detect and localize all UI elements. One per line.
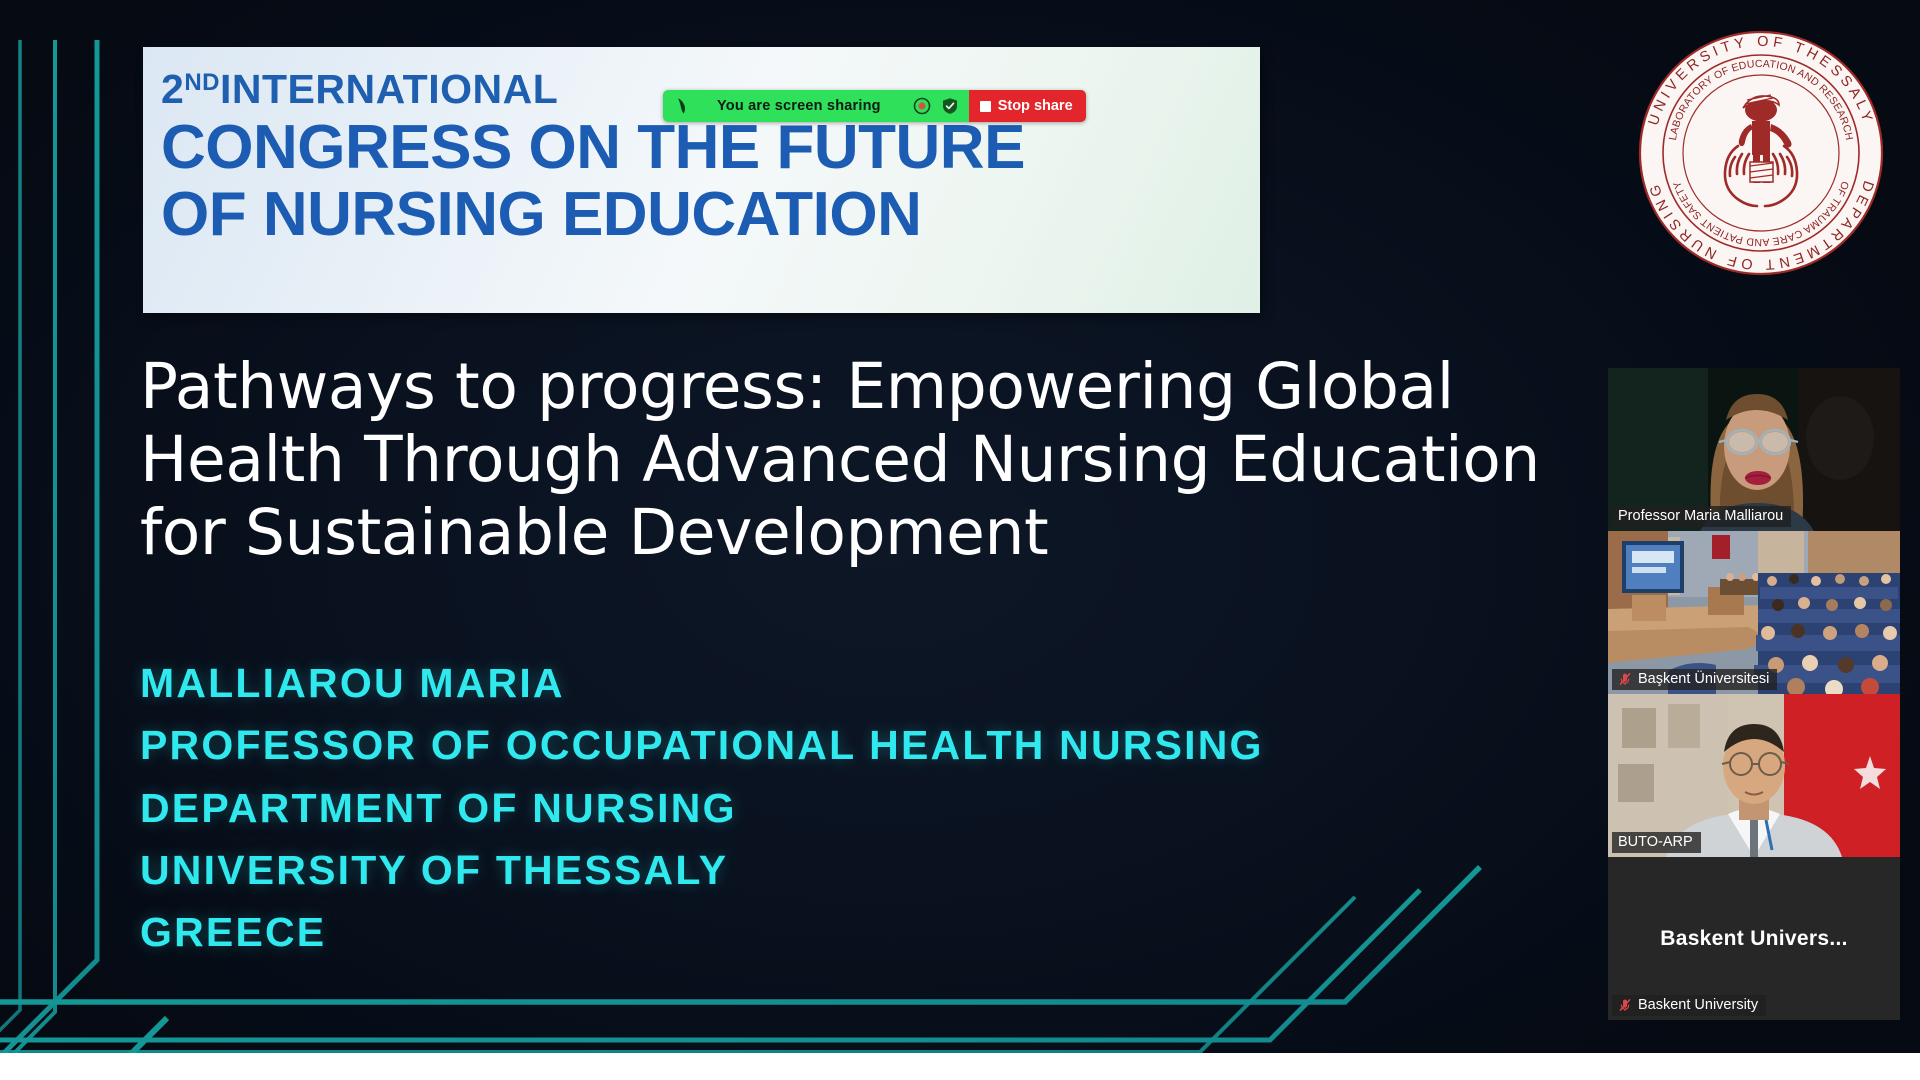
participant-name-text: BUTO-ARP — [1618, 834, 1693, 850]
banner-line-3: OF NURSING EDUCATION — [161, 183, 1260, 246]
banner-line-2: CONGRESS ON THE FUTURE — [161, 116, 1260, 179]
participant-name-label: Professor Maria Malliarou — [1612, 506, 1791, 527]
screen-share-toolbar[interactable]: You are screen sharing Stop share — [663, 90, 1086, 122]
banner-ordinal-number: 2 — [161, 69, 184, 110]
stop-share-label: Stop share — [998, 98, 1073, 114]
participant-tile-buto-arp[interactable]: BUTO-ARP — [1608, 694, 1900, 857]
record-indicator-icon[interactable] — [913, 97, 931, 115]
university-of-thessaly-seal: UNIVERSITY OF THESSALY DEPARTMENT OF NUR… — [1632, 24, 1890, 282]
participant-name-text: Başkent Üniversitesi — [1638, 671, 1769, 687]
cursor-icon — [675, 97, 691, 115]
congress-banner: 2ND INTERNATIONAL CONGRESS ON THE FUTURE… — [143, 47, 1260, 313]
participant-name-label: BUTO-ARP — [1612, 832, 1701, 853]
screen-share-status-text: You are screen sharing — [701, 98, 903, 114]
stop-share-button[interactable]: Stop share — [969, 90, 1086, 122]
author-line-university: UNIVERSITY OF THESSALY — [140, 839, 1560, 901]
banner-ordinal-suffix: ND — [184, 71, 220, 95]
slide-title: Pathways to progress: Empowering Global … — [140, 350, 1570, 569]
mic-muted-icon — [1618, 998, 1632, 1012]
author-line-department: DEPARTMENT OF NURSING — [140, 777, 1560, 839]
participant-tile-professor-maria-malliarou[interactable]: Professor Maria Malliarou — [1608, 368, 1900, 531]
participant-name-label: Başkent Üniversitesi — [1612, 669, 1777, 690]
author-affiliation-block: MALLIAROU MARIA PROFESSOR OF OCCUPATIONA… — [140, 652, 1560, 964]
participant-name-text: Professor Maria Malliarou — [1618, 508, 1783, 524]
participant-video-strip: Professor Maria Malliarou — [1608, 368, 1900, 1020]
stop-square-icon — [980, 101, 991, 112]
author-line-country: GREECE — [140, 901, 1560, 963]
mic-muted-icon — [1618, 672, 1632, 686]
shield-check-icon[interactable] — [941, 97, 959, 115]
participant-tile-baskent-universitesi[interactable]: Başkent Üniversitesi — [1608, 531, 1900, 694]
author-line-name: MALLIAROU MARIA — [140, 652, 1560, 714]
presentation-screen-share-view: 2ND INTERNATIONAL CONGRESS ON THE FUTURE… — [0, 0, 1920, 1080]
participant-name-text: Baskent University — [1638, 997, 1758, 1013]
participant-tile-baskent-university[interactable]: Baskent Univers... Baskent University — [1608, 857, 1900, 1020]
bottom-white-strip — [0, 1053, 1920, 1080]
banner-line-1-rest: INTERNATIONAL — [220, 69, 558, 110]
screen-share-status-group: You are screen sharing — [663, 90, 969, 122]
participant-name-label: Baskent University — [1612, 995, 1766, 1016]
author-line-title: PROFESSOR OF OCCUPATIONAL HEALTH NURSING — [140, 714, 1560, 776]
